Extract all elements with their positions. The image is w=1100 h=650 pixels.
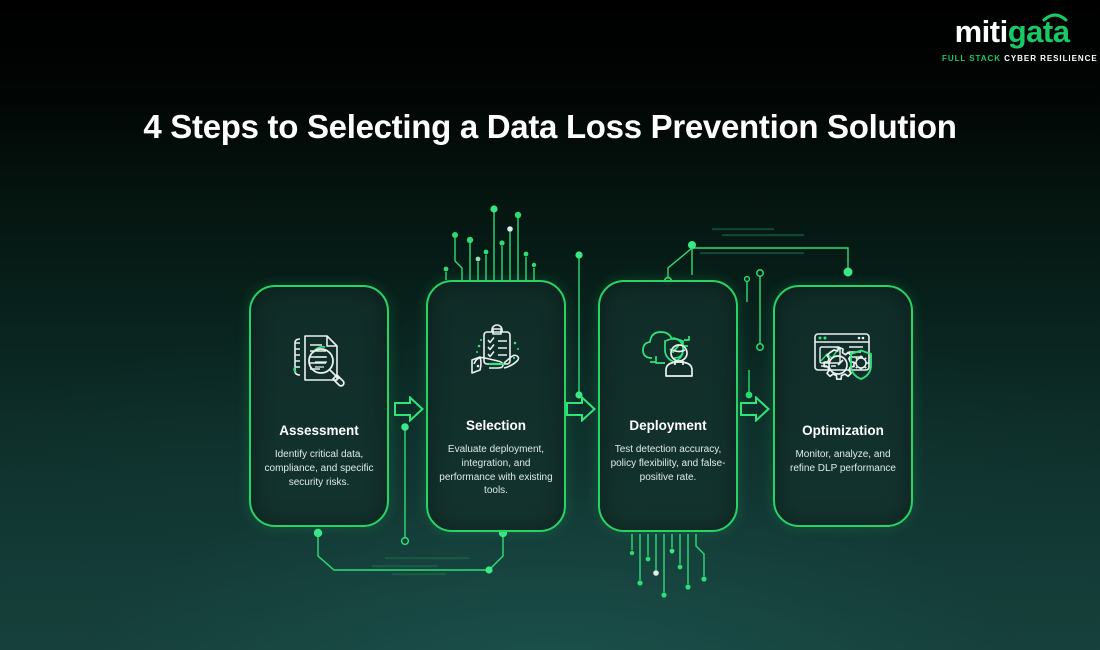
page-title: 4 Steps to Selecting a Data Loss Prevent… [0, 108, 1100, 146]
card-desc-assessment: Identify critical data, compliance, and … [251, 448, 387, 489]
step-card-deployment[interactable]: Deployment Test detection accuracy, poli… [598, 280, 738, 532]
card-desc-deployment: Test detection accuracy, policy flexibil… [600, 443, 736, 484]
hand-checklist-icon [460, 316, 532, 388]
card-title-assessment: Assessment [279, 423, 359, 438]
logo-wordmark: mitigata [955, 16, 1070, 47]
card-title-optimization: Optimization [802, 423, 884, 438]
brand-logo: mitigata FULL STACK CYBER RESILIENCE [942, 16, 1082, 63]
arrow-deployment-to-optimization [740, 396, 770, 422]
dashboard-gear-shield-icon [807, 321, 879, 393]
step-card-optimization[interactable]: Optimization Monitor, analyze, and refin… [773, 285, 913, 527]
card-title-selection: Selection [466, 418, 526, 433]
tagline-part2: CYBER RESILIENCE [1004, 54, 1097, 63]
document-magnifier-icon [283, 321, 355, 393]
step-card-assessment[interactable]: Assessment Identify critical data, compl… [249, 285, 389, 527]
logo-tagline: FULL STACK CYBER RESILIENCE [942, 54, 1082, 63]
arrow-selection-to-deployment [566, 396, 596, 422]
card-desc-selection: Evaluate deployment, integration, and pe… [428, 443, 564, 498]
logo-word-part1: miti [955, 14, 1008, 49]
infographic-canvas: mitigata FULL STACK CYBER RESILIENCE 4 S… [0, 0, 1100, 650]
arrow-assessment-to-selection [394, 396, 424, 422]
card-title-deployment: Deployment [629, 418, 706, 433]
cloud-shield-user-icon [632, 316, 704, 388]
step-card-selection[interactable]: Selection Evaluate deployment, integrati… [426, 280, 566, 532]
tagline-part1: FULL STACK [942, 54, 1001, 63]
logo-arc-icon [1042, 10, 1068, 22]
card-desc-optimization: Monitor, analyze, and refine DLP perform… [775, 448, 911, 476]
